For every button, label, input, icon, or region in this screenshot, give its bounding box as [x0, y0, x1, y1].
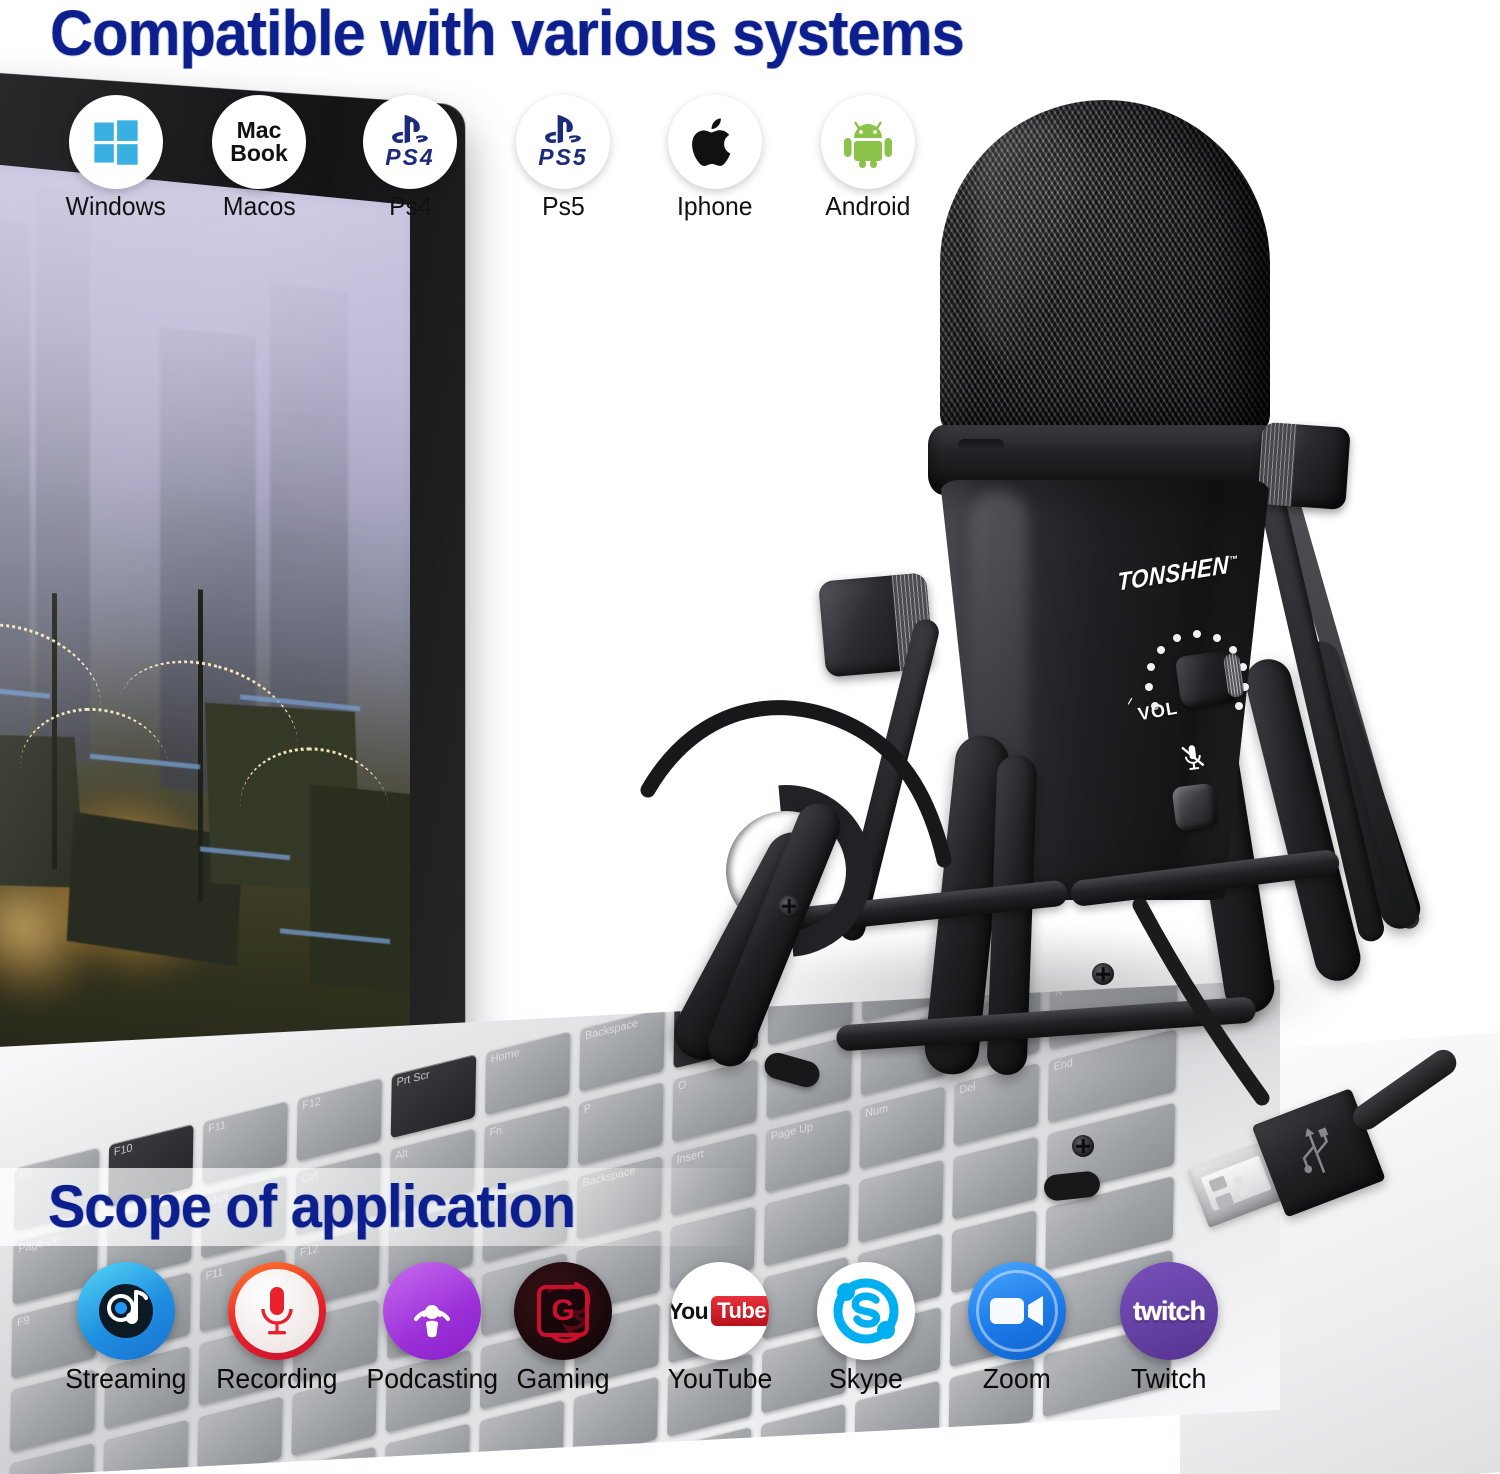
badge-label: Ps4: [389, 191, 432, 222]
keyboard-key[interactable]: [196, 1469, 282, 1474]
badge-label: Gaming: [516, 1363, 609, 1395]
badge-label: Recording: [216, 1363, 337, 1395]
streaming-music-note-icon: [77, 1262, 175, 1360]
youtube-logo-icon: You Tube: [671, 1262, 769, 1360]
dial-dot: [1193, 630, 1201, 638]
badge-macos[interactable]: Mac Book Macos: [212, 95, 306, 222]
usb-microphone: TONSHEN™ − VOL: [640, 95, 1470, 1155]
badge-label: Zoom: [983, 1363, 1051, 1395]
badge-label: Skype: [829, 1363, 903, 1395]
badge-youtube[interactable]: You Tube YouTube: [665, 1262, 775, 1395]
windows-logo-icon: [69, 95, 163, 189]
page-title-scope: Scope of application: [48, 1172, 575, 1241]
badge-label: Streaming: [65, 1363, 186, 1395]
apple-logo-icon: [668, 95, 762, 189]
zoom-camera-icon: [968, 1262, 1066, 1360]
playstation-5-logo-icon: PS5: [516, 95, 610, 189]
badge-iphone[interactable]: Iphone: [668, 95, 762, 222]
youtube-tube-text: Tube: [711, 1296, 769, 1326]
keyboard-key[interactable]: Prt Scr: [391, 1054, 477, 1138]
dial-dot: [1173, 634, 1181, 642]
dial-dot: [1147, 663, 1155, 671]
dial-dot: [1213, 634, 1221, 642]
badge-label: Ps5: [542, 191, 585, 222]
keyboard-key[interactable]: [197, 1395, 283, 1474]
gaming-dragon-g-icon: G: [514, 1262, 612, 1360]
dial-dot: [1145, 683, 1153, 691]
keyboard-key[interactable]: [764, 1182, 850, 1266]
ps4-text: PS4: [385, 144, 434, 171]
badge-streaming[interactable]: Streaming: [62, 1262, 190, 1395]
badge-label: YouTube: [668, 1363, 773, 1395]
badge-ps5[interactable]: PS5 Ps5: [516, 95, 610, 222]
trademark-symbol: ™: [1229, 554, 1238, 567]
stand-screw: [1092, 963, 1114, 985]
badge-label: Podcasting: [366, 1363, 498, 1395]
badge-label: Iphone: [677, 191, 753, 222]
badge-skype[interactable]: Skype: [817, 1262, 915, 1395]
keyboard-key[interactable]: [479, 1399, 565, 1474]
playstation-4-logo-icon: PS4: [363, 95, 457, 189]
volume-knob[interactable]: [1175, 649, 1242, 709]
apple-podcasts-icon: [383, 1262, 481, 1360]
product-marketing-image: F9F10F11F12Prt ScrHomeBackspaceInsertPag…: [0, 0, 1500, 1474]
laptop-screen: [0, 159, 410, 1125]
macbook-text-icon: Mac Book: [212, 95, 306, 189]
badge-windows[interactable]: Windows: [63, 95, 168, 222]
badge-zoom[interactable]: Zoom: [968, 1262, 1066, 1395]
ps5-text: PS5: [538, 144, 587, 171]
mic-mute-icon: [1178, 742, 1207, 775]
keyboard-key[interactable]: [760, 1403, 846, 1474]
gaming-letter: G: [551, 1296, 574, 1326]
mute-button[interactable]: [1171, 783, 1218, 832]
badge-label: Macos: [223, 191, 296, 222]
badge-label: Android: [825, 191, 910, 222]
twitch-logo-icon: twitch: [1120, 1262, 1218, 1360]
stand-screw: [1072, 1135, 1094, 1157]
macbook-line2: Book: [230, 142, 288, 165]
macbook-line1: Mac: [230, 119, 288, 142]
recording-microphone-icon: [228, 1262, 326, 1360]
badge-twitch[interactable]: twitch Twitch: [1120, 1262, 1218, 1395]
keyboard-key[interactable]: [858, 1159, 944, 1243]
stand-screw: [778, 895, 800, 917]
badge-label: Twitch: [1131, 1363, 1206, 1395]
tension-knob-right[interactable]: [1257, 422, 1351, 510]
badge-gaming[interactable]: G Gaming: [514, 1262, 612, 1395]
keyboard-key[interactable]: [571, 1450, 657, 1474]
keyboard-key[interactable]: Home: [485, 1031, 571, 1115]
dial-dot: [1157, 646, 1165, 654]
skype-logo-icon: [817, 1262, 915, 1360]
badge-podcasting[interactable]: Podcasting: [363, 1262, 502, 1395]
badge-label: Windows: [66, 191, 166, 222]
android-robot-icon: [821, 95, 915, 189]
keyboard-key[interactable]: F12: [296, 1077, 382, 1161]
badge-ps4[interactable]: PS4 Ps4: [363, 95, 457, 222]
dial-dot: [1235, 702, 1243, 710]
twitch-text: twitch: [1133, 1296, 1205, 1327]
youtube-you-text: You: [671, 1298, 708, 1325]
keyboard-key[interactable]: [103, 1418, 189, 1474]
badge-recording[interactable]: Recording: [213, 1262, 341, 1395]
badge-android[interactable]: Android: [821, 95, 915, 222]
